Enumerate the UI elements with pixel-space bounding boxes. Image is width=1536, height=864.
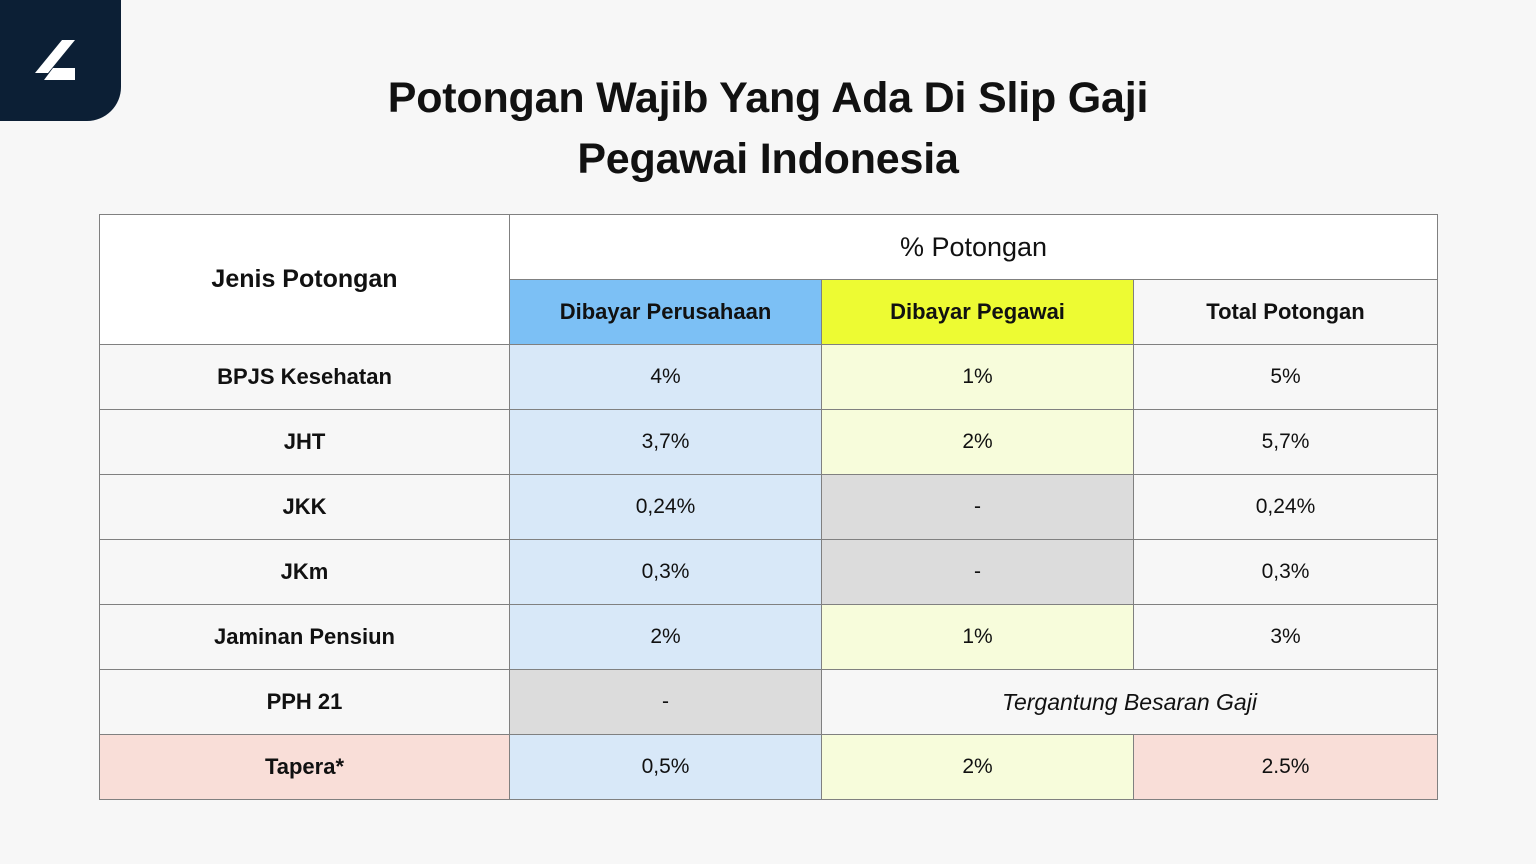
deduction-table: Jenis Potongan % Potongan Dibayar Perusa… xyxy=(99,214,1438,800)
table-body: BPJS Kesehatan 4% 1% 5% JHT 3,7% 2% 5,7%… xyxy=(100,345,1438,800)
cell-dibayar-pegawai: 1% xyxy=(822,605,1134,670)
row-label: PPH 21 xyxy=(100,670,510,735)
table-row: JHT 3,7% 2% 5,7% xyxy=(100,410,1438,475)
deduction-table-container: Jenis Potongan % Potongan Dibayar Perusa… xyxy=(99,214,1437,800)
row-label: JKm xyxy=(100,540,510,605)
column-header-total-potongan: Total Potongan xyxy=(1134,280,1438,345)
table-head: Jenis Potongan % Potongan Dibayar Perusa… xyxy=(100,215,1438,345)
table-row: JKK 0,24% - 0,24% xyxy=(100,475,1438,540)
cell-total-potongan: 3% xyxy=(1134,605,1438,670)
cell-dibayar-perusahaan: 0,3% xyxy=(510,540,822,605)
table-row: JKm 0,3% - 0,3% xyxy=(100,540,1438,605)
cell-dibayar-perusahaan: - xyxy=(510,670,822,735)
cell-dibayar-pegawai: 2% xyxy=(822,410,1134,475)
column-header-dibayar-perusahaan: Dibayar Perusahaan xyxy=(510,280,822,345)
cell-dibayar-perusahaan: 2% xyxy=(510,605,822,670)
cell-dibayar-pegawai: - xyxy=(822,475,1134,540)
cell-total-potongan: 0,3% xyxy=(1134,540,1438,605)
table-header-row-group: Jenis Potongan % Potongan xyxy=(100,215,1438,280)
cell-total-potongan: 2.5% xyxy=(1134,735,1438,800)
cell-dibayar-pegawai: - xyxy=(822,540,1134,605)
row-label: JHT xyxy=(100,410,510,475)
column-header-dibayar-pegawai: Dibayar Pegawai xyxy=(822,280,1134,345)
cell-dibayar-pegawai: 2% xyxy=(822,735,1134,800)
table-row: Tapera* 0,5% 2% 2.5% xyxy=(100,735,1438,800)
cell-dibayar-pegawai: 1% xyxy=(822,345,1134,410)
cell-dibayar-perusahaan: 0,24% xyxy=(510,475,822,540)
cell-total-potongan: 0,24% xyxy=(1134,475,1438,540)
column-header-jenis-potongan: Jenis Potongan xyxy=(100,215,510,345)
table-row: PPH 21 - Tergantung Besaran Gaji xyxy=(100,670,1438,735)
table-row: Jaminan Pensiun 2% 1% 3% xyxy=(100,605,1438,670)
cell-total-potongan: 5,7% xyxy=(1134,410,1438,475)
row-label: Tapera* xyxy=(100,735,510,800)
cell-total-potongan: 5% xyxy=(1134,345,1438,410)
page-title-line-2: Pegawai Indonesia xyxy=(0,129,1536,190)
page-title-line-1: Potongan Wajib Yang Ada Di Slip Gaji xyxy=(0,68,1536,129)
cell-merged-note: Tergantung Besaran Gaji xyxy=(822,670,1438,735)
cell-dibayar-perusahaan: 0,5% xyxy=(510,735,822,800)
row-label: BPJS Kesehatan xyxy=(100,345,510,410)
table-row: BPJS Kesehatan 4% 1% 5% xyxy=(100,345,1438,410)
column-group-header-persen-potongan: % Potongan xyxy=(510,215,1438,280)
slide-canvas: Potongan Wajib Yang Ada Di Slip Gaji Peg… xyxy=(0,0,1536,864)
row-label: JKK xyxy=(100,475,510,540)
cell-dibayar-perusahaan: 3,7% xyxy=(510,410,822,475)
row-label: Jaminan Pensiun xyxy=(100,605,510,670)
page-title: Potongan Wajib Yang Ada Di Slip Gaji Peg… xyxy=(0,68,1536,190)
cell-dibayar-perusahaan: 4% xyxy=(510,345,822,410)
